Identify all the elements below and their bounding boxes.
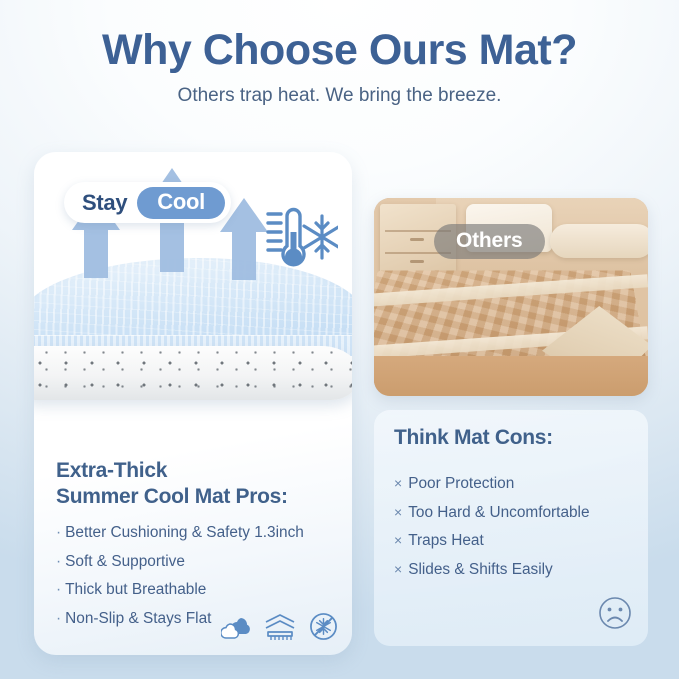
stay-cool-badge: Stay Cool: [64, 182, 231, 223]
list-item: ·Soft & Supportive: [56, 548, 332, 577]
bullet-mark: ·: [56, 610, 61, 627]
bullet-mark: ·: [56, 581, 61, 598]
page-subtitle: Others trap heat. We bring the breeze.: [0, 85, 679, 107]
page-header: Why Choose Ours Mat? Others trap heat. W…: [0, 0, 679, 107]
list-item: ×Too Hard & Uncomfortable: [394, 499, 630, 528]
cross-mark: ×: [394, 475, 402, 491]
cons-card: Others Think Mat Cons: ×Poor Protection …: [374, 152, 654, 655]
pros-item-text: Non-Slip & Stays Flat: [65, 610, 211, 627]
pros-item-text: Soft & Supportive: [65, 553, 185, 570]
thermometer-snowflake-icon: [254, 206, 338, 280]
cross-mark: ×: [394, 532, 402, 548]
photo-bolster-pillow: [550, 224, 648, 258]
list-item: ×Traps Heat: [394, 527, 630, 556]
pros-heading: Extra-Thick Summer Cool Mat Pros:: [56, 458, 332, 509]
list-item: ×Slides & Shifts Easily: [394, 556, 630, 585]
bullet-mark: ·: [56, 524, 61, 541]
cons-list: ×Poor Protection ×Too Hard & Uncomfortab…: [394, 470, 630, 585]
page-title: Why Choose Ours Mat?: [0, 28, 679, 73]
cool-mat-illustration: Stay Cool: [34, 152, 352, 444]
cons-item-text: Traps Heat: [408, 532, 484, 549]
breathable-layers-icon: [264, 613, 296, 641]
others-badge: Others: [434, 224, 545, 259]
others-mat-photo: Others: [374, 198, 648, 396]
cross-mark: ×: [394, 561, 402, 577]
pros-item-text: Better Cushioning & Safety 1.3inch: [65, 524, 304, 541]
bullet-mark: ·: [56, 553, 61, 570]
feature-icons-row: [221, 612, 338, 641]
photo-bed-base: [374, 356, 648, 396]
sad-face-icon: [598, 596, 632, 630]
cross-mark: ×: [394, 504, 402, 520]
pros-text-block: Extra-Thick Summer Cool Mat Pros: ·Bette…: [34, 444, 352, 633]
pros-heading-line1: Extra-Thick: [56, 459, 167, 482]
anti-mite-icon: [309, 612, 338, 641]
cons-heading: Think Mat Cons:: [394, 426, 630, 450]
cons-text-block: Think Mat Cons: ×Poor Protection ×Too Ha…: [374, 410, 648, 646]
list-item: ×Poor Protection: [394, 470, 630, 499]
cons-item-text: Slides & Shifts Easily: [408, 561, 553, 578]
stay-cool-badge-word1: Stay: [82, 190, 127, 216]
cons-item-text: Too Hard & Uncomfortable: [408, 504, 589, 521]
cloud-soft-icon: [221, 613, 251, 641]
pros-item-text: Thick but Breathable: [65, 581, 206, 598]
comparison-cards: Stay Cool: [0, 152, 679, 662]
list-item: ·Thick but Breathable: [56, 576, 332, 605]
stay-cool-badge-word2: Cool: [137, 187, 225, 219]
cons-item-text: Poor Protection: [408, 475, 514, 492]
pros-card: Stay Cool: [34, 152, 352, 655]
mat-foam-base: [34, 346, 352, 400]
list-item: ·Better Cushioning & Safety 1.3inch: [56, 519, 332, 548]
pros-heading-line2: Summer Cool Mat Pros:: [56, 485, 288, 508]
